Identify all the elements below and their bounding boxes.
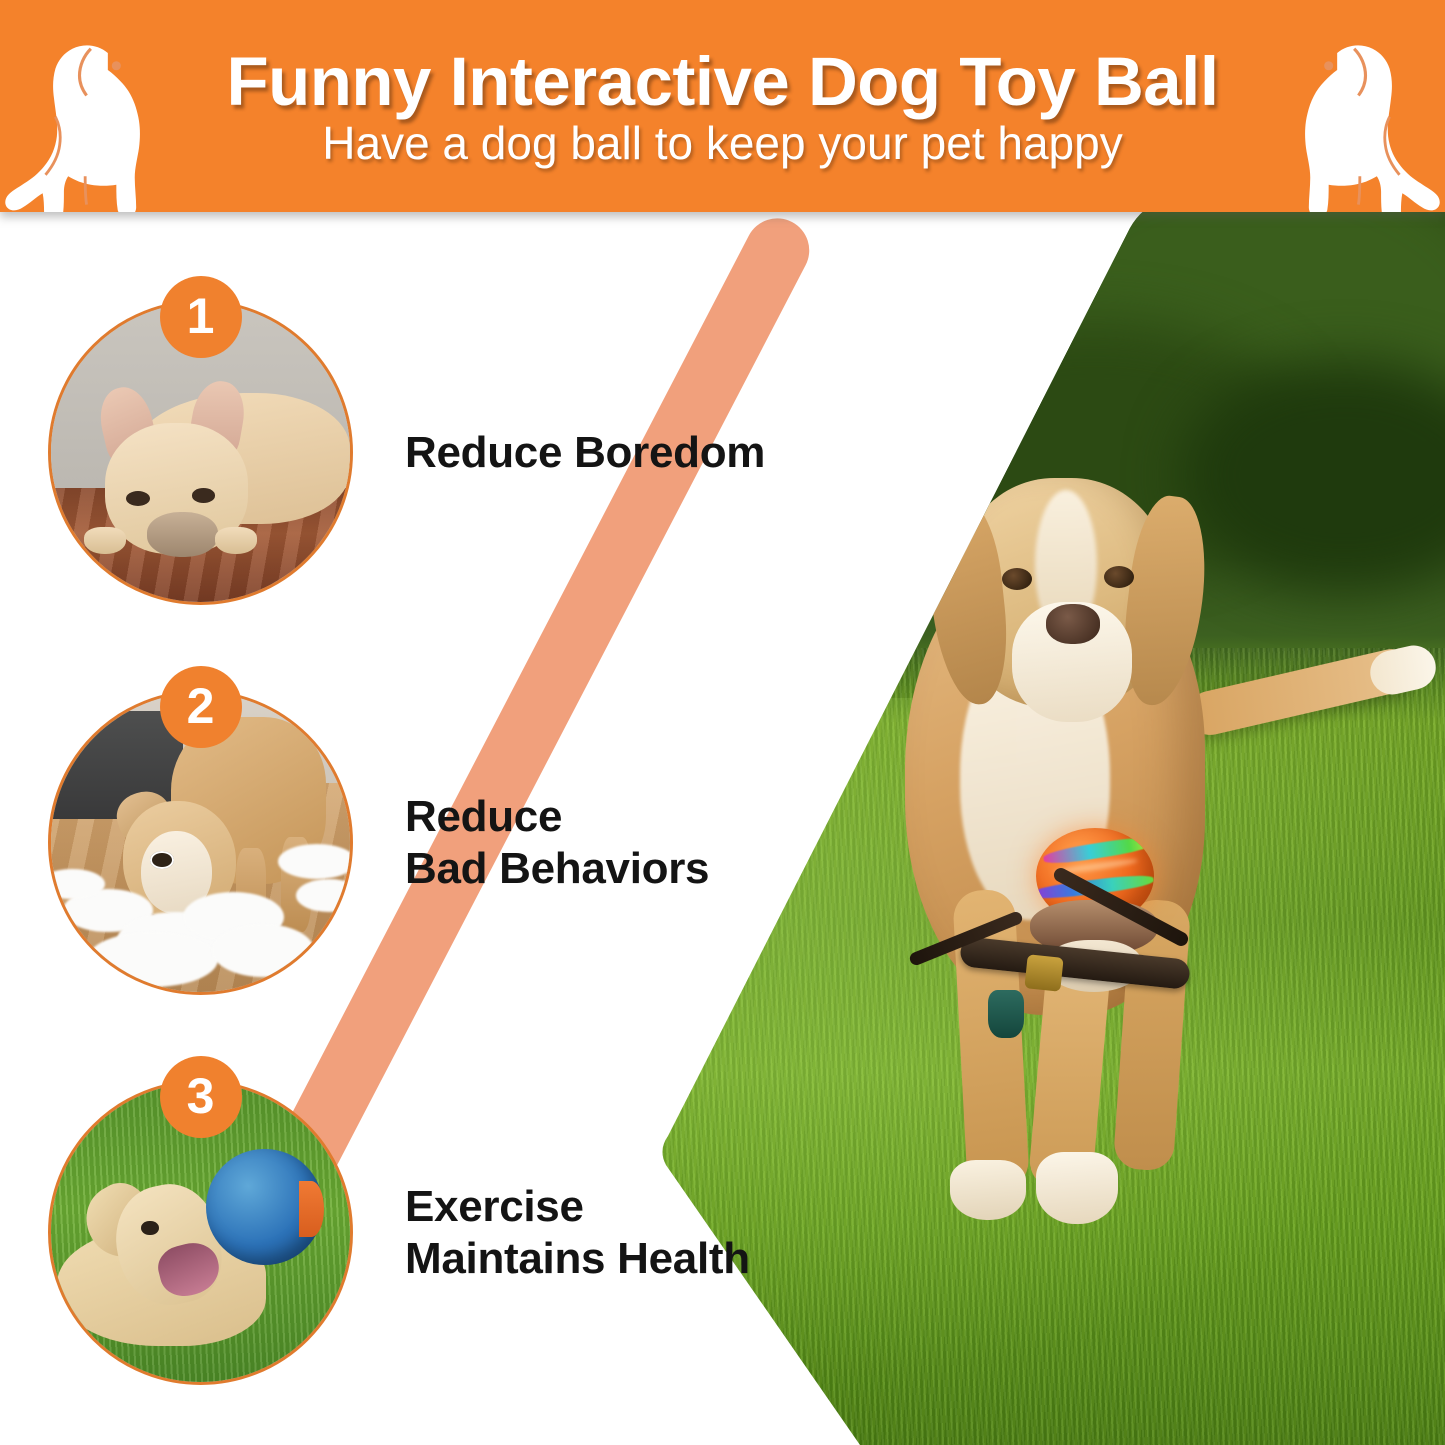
feature-thumb-wrap-1: 1 (48, 300, 353, 605)
thumb3-dog-head (105, 1175, 229, 1313)
thumb1-dog-ear (94, 382, 161, 469)
thumb3-dog-mouth (153, 1238, 223, 1302)
infographic-page: Funny Interactive Dog Toy Ball Have a do… (0, 0, 1445, 1445)
thumb1-dog-paw (84, 527, 126, 554)
dog-eye-left (1002, 568, 1032, 590)
thumb2-dog-head (123, 801, 237, 921)
page-title: Funny Interactive Dog Toy Ball (226, 47, 1218, 116)
collar-tag (988, 990, 1024, 1038)
dog-paw-left (950, 1160, 1026, 1220)
collar-buckle (1024, 954, 1063, 992)
thumb2-dog-leg (281, 837, 311, 933)
feature-row-2[interactable]: 2 Reduce Bad Behaviors (48, 690, 709, 995)
feature-label-1: Reduce Boredom (405, 427, 765, 478)
thumb3-dog-ear (73, 1173, 166, 1268)
feature-label-3: Exercise Maintains Health (405, 1181, 750, 1283)
thumb2-dog-leg (236, 848, 266, 938)
thumb2-dog-eye (150, 851, 174, 869)
header-text-block: Funny Interactive Dog Toy Ball Have a do… (0, 0, 1445, 212)
feature-label-2: Reduce Bad Behaviors (405, 791, 709, 893)
header-banner: Funny Interactive Dog Toy Ball Have a do… (0, 0, 1445, 212)
thumb1-dog-paw (215, 527, 257, 554)
thumb1-dog-muzzle (147, 512, 219, 557)
thumb2-shredded-toy (51, 866, 350, 992)
thumb2-dog-face (141, 831, 213, 915)
thumb3-ball-band (299, 1181, 325, 1237)
thumb3-dog-eye (141, 1221, 159, 1236)
thumb3-toy-ball (206, 1149, 323, 1266)
feature-badge-1: 1 (160, 276, 242, 358)
thumb1-dog-head (105, 423, 249, 555)
dog-nose (1046, 604, 1100, 644)
thumb2-floor (51, 783, 350, 992)
thumb1-dog-ear (185, 377, 249, 462)
feature-row-3[interactable]: 3 Exercise Maintains Health (48, 1080, 750, 1385)
dog-eye-right (1104, 566, 1134, 588)
thumb1-dog-eye (192, 488, 216, 503)
feature-badge-2: 2 (160, 666, 242, 748)
thumb1-dog-body (129, 393, 350, 525)
thumb1-dog-eye (126, 491, 150, 506)
feature-thumb-wrap-3: 3 (48, 1080, 353, 1385)
feature-row-1[interactable]: 1 Reduce Boredom (48, 300, 765, 605)
thumb3-dog-body (57, 1227, 266, 1347)
dog-paw-right (1036, 1152, 1118, 1224)
thumb2-sofa (51, 711, 183, 819)
thumb1-floor (51, 488, 350, 602)
thumb2-dog-ear (111, 785, 177, 847)
feature-thumb-wrap-2: 2 (48, 690, 353, 995)
page-subtitle: Have a dog ball to keep your pet happy (322, 120, 1122, 166)
feature-badge-3: 3 (160, 1056, 242, 1138)
